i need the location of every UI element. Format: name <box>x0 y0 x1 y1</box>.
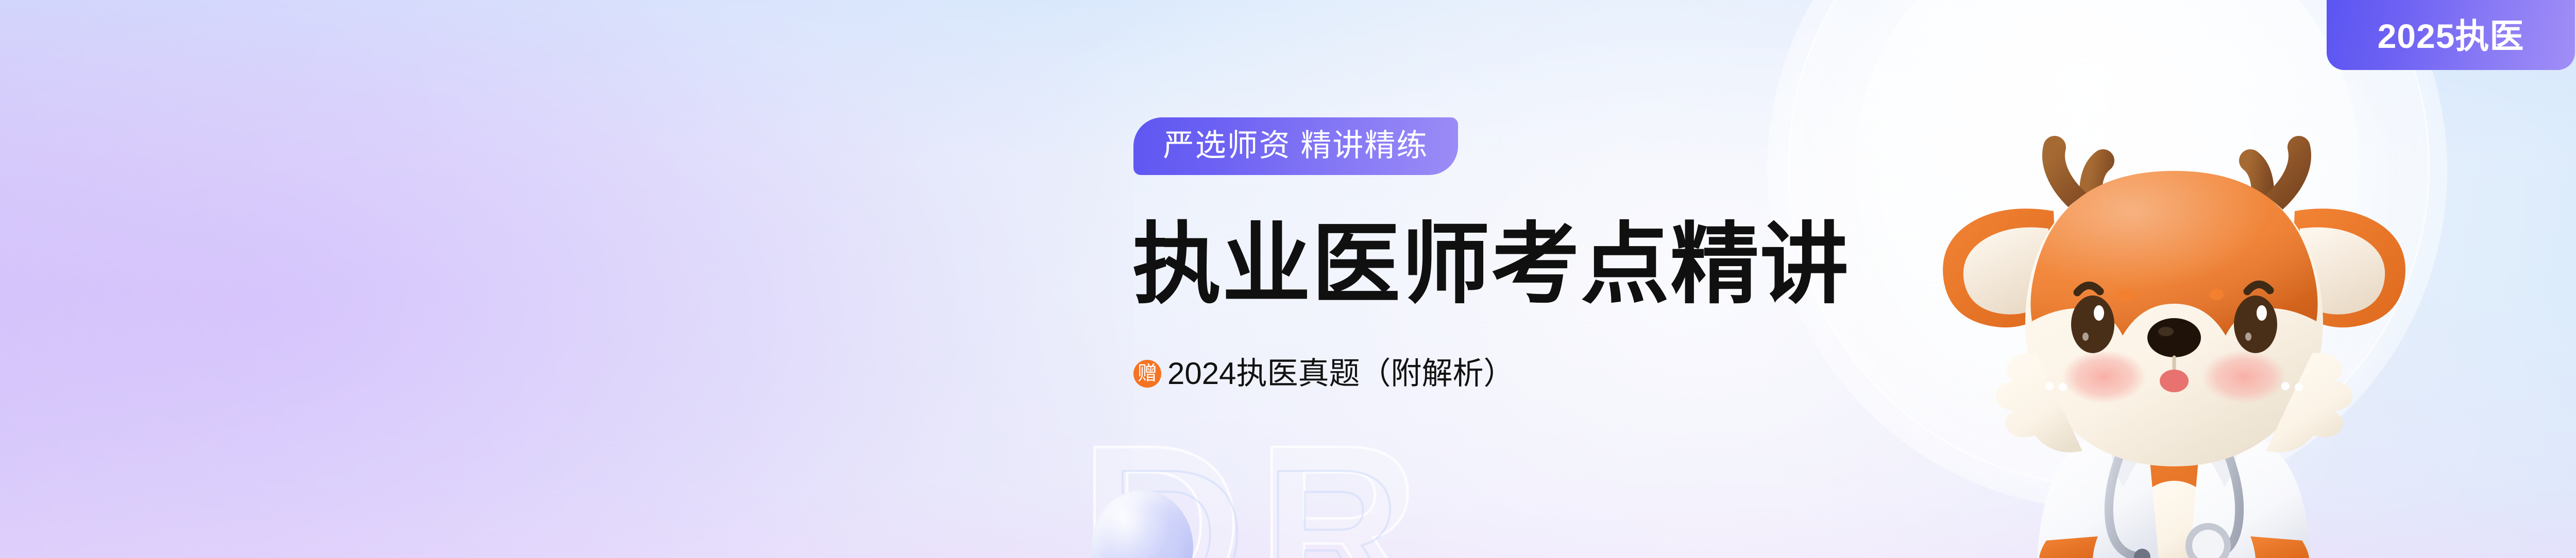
background-left-lavender-glow <box>0 0 1133 558</box>
deer-doctor-mascot <box>1901 31 2447 558</box>
gift-badge-icon: 赠 <box>1133 360 1161 388</box>
eyebrow-badge-label: 严选师资 精讲精练 <box>1163 130 1429 162</box>
page-title: 执业医师考点精讲 <box>1132 220 1850 309</box>
gift-description: 2024执医真题（附解析） <box>1167 358 1514 389</box>
background-right-blue-glow <box>2524 0 2576 558</box>
gift-badge-label: 赠 <box>1138 364 1157 384</box>
gift-line: 赠 2024执医真题（附解析） <box>1133 358 1514 389</box>
eyebrow-badge: 严选师资 精讲精练 <box>1133 117 1458 175</box>
promo-banner: DR DR 2025执医 严选师资 精讲精练 执业医师考点精讲 赠 2024执医… <box>0 0 2576 558</box>
